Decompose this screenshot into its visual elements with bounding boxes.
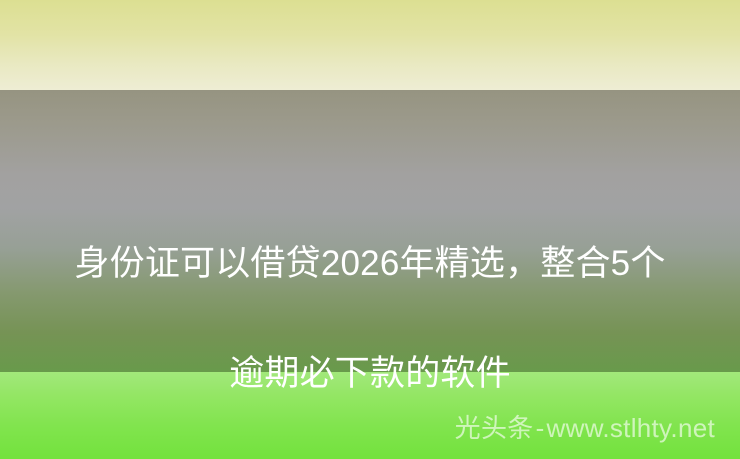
headline-line-2: 逾期必下款的软件 <box>229 354 511 393</box>
headline-line-1: 身份证可以借贷2026年精选，整合5个 <box>74 244 665 283</box>
watermark-separator: - <box>534 413 547 443</box>
promo-banner: 身份证可以借贷2026年精选，整合5个 逾期必下款的软件 光头条-www.stl… <box>0 0 740 459</box>
top-gradient-band <box>0 0 740 90</box>
site-watermark: 光头条-www.stlhty.net <box>455 413 715 443</box>
banner-headline: 身份证可以借贷2026年精选，整合5个 逾期必下款的软件 <box>0 181 740 401</box>
watermark-site-name: 光头条 <box>455 413 534 443</box>
watermark-url: www.stlhty.net <box>547 413 715 443</box>
